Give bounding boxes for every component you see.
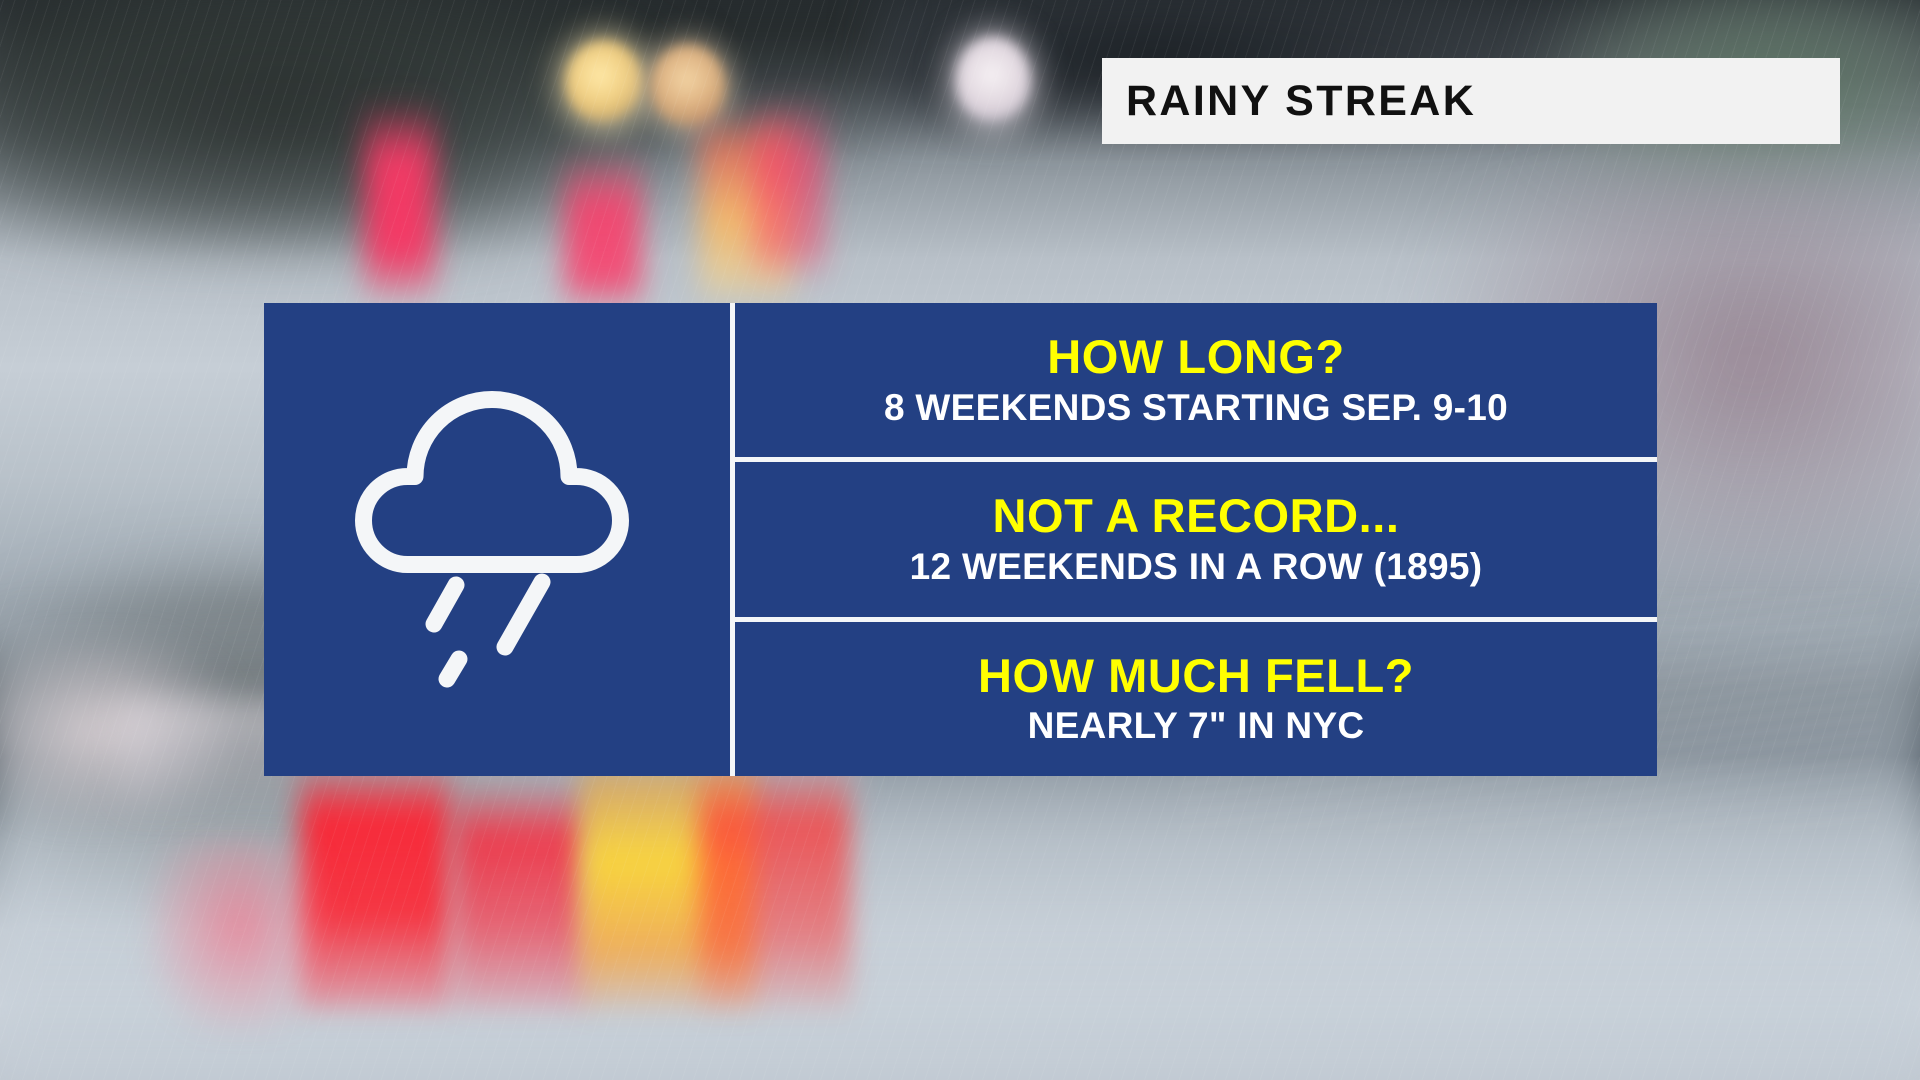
- light-trail-2: [565, 150, 641, 310]
- fact-heading: HOW MUCH FELL?: [978, 651, 1414, 701]
- headline-banner: RAINY STREAK: [1102, 58, 1840, 144]
- fact-detail: 8 WEEKENDS STARTING SEP. 9-10: [884, 388, 1508, 429]
- info-panel: HOW LONG? 8 WEEKENDS STARTING SEP. 9-10 …: [264, 303, 1657, 776]
- bokeh-light-amber-1: [565, 40, 643, 124]
- pavement-reflection-4: [700, 760, 850, 1010]
- weather-graphic-stage: RAINY STREAK HOW LONG? 8 WEEKENDS STARTI…: [0, 0, 1920, 1080]
- bokeh-light-white-1: [955, 36, 1031, 124]
- fact-row-not-a-record: NOT A RECORD... 12 WEEKENDS IN A ROW (18…: [735, 457, 1657, 616]
- fact-row-how-much-fell: HOW MUCH FELL? NEARLY 7" IN NYC: [735, 617, 1657, 776]
- light-trail-1: [365, 100, 435, 300]
- fact-heading: NOT A RECORD...: [992, 491, 1399, 541]
- fact-detail: 12 WEEKENDS IN A ROW (1895): [910, 547, 1483, 588]
- fact-row-how-long: HOW LONG? 8 WEEKENDS STARTING SEP. 9-10: [735, 303, 1657, 457]
- fact-detail: NEARLY 7" IN NYC: [1028, 706, 1365, 747]
- rain-cloud-icon: [337, 379, 657, 701]
- fact-heading: HOW LONG?: [1047, 332, 1344, 382]
- fact-rows: HOW LONG? 8 WEEKENDS STARTING SEP. 9-10 …: [735, 303, 1657, 776]
- icon-cell: [264, 303, 735, 776]
- pavement-reflection-2: [455, 780, 585, 1010]
- light-trail-4: [755, 95, 825, 285]
- pavement-reflection-5: [150, 840, 330, 1030]
- page-title: RAINY STREAK: [1126, 77, 1476, 126]
